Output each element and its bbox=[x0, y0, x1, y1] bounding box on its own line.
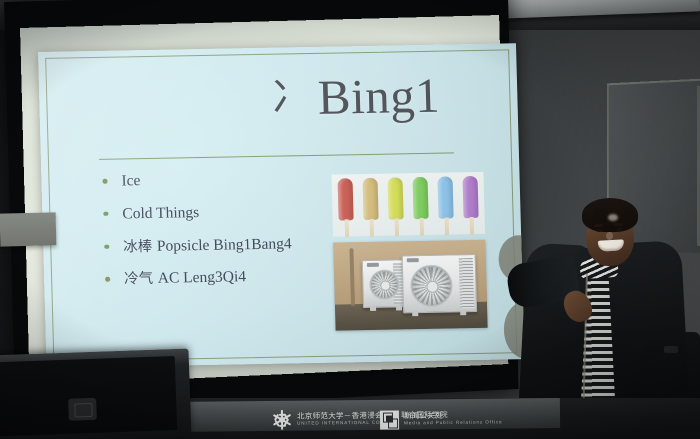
ac-grille bbox=[459, 258, 474, 308]
popsicle-6 bbox=[463, 176, 480, 234]
face-highlight bbox=[608, 214, 618, 221]
square-mark-icon bbox=[380, 410, 399, 429]
slide-title-text: Bing1 bbox=[317, 68, 441, 125]
popsicle-2 bbox=[363, 178, 380, 236]
nose bbox=[606, 232, 613, 240]
ac-foot bbox=[460, 310, 466, 315]
sleeve-tab bbox=[664, 346, 678, 353]
eye-left bbox=[596, 229, 602, 232]
list-item: 冰棒 Popsicle Bing1Bang4 bbox=[101, 234, 351, 256]
bullet-dot-icon bbox=[102, 179, 107, 184]
bullet-dot-icon bbox=[103, 212, 108, 217]
ac-unit-right bbox=[402, 254, 478, 313]
ac-brand-mark bbox=[367, 263, 379, 267]
list-item: 冷气 AC Leng3Qi4 bbox=[102, 267, 352, 289]
popsicle-body bbox=[363, 178, 379, 220]
photo-scene: 冫Bing1 Ice Cold Things 冰棒 Popsicle B bbox=[0, 0, 700, 439]
popsicle-body bbox=[413, 177, 429, 219]
popsicle-4 bbox=[413, 177, 430, 235]
eye-right bbox=[616, 228, 622, 231]
bullet-label: Cold Things bbox=[122, 204, 199, 222]
popsicle-body bbox=[388, 177, 404, 219]
monitor-button bbox=[68, 398, 97, 421]
popsicle-stick bbox=[444, 218, 448, 236]
bullet-label: Popsicle Bing1Bang4 bbox=[157, 235, 292, 254]
bullet-label: Ice bbox=[121, 172, 140, 189]
popsicle-stick bbox=[394, 218, 398, 236]
air-conditioner-photo bbox=[333, 240, 487, 331]
ac-foot bbox=[412, 311, 418, 316]
wall-bracket bbox=[0, 212, 56, 246]
ac-fan-blades bbox=[371, 271, 398, 297]
list-item: Cold Things bbox=[100, 201, 350, 223]
bullet-dot-icon bbox=[104, 244, 109, 249]
list-item: Ice bbox=[99, 168, 349, 190]
bullet-han: 冰棒 bbox=[123, 238, 157, 255]
bullet-han: 冷气 bbox=[124, 271, 158, 288]
bullet-label: AC Leng3Qi4 bbox=[158, 269, 247, 288]
monitor-bezel bbox=[0, 356, 177, 436]
popsicle-stick bbox=[369, 219, 373, 237]
mpro-logo-en: Media and Public Relations Office bbox=[404, 420, 503, 426]
popsicle-stick bbox=[419, 218, 423, 236]
popsicle-3 bbox=[388, 177, 405, 235]
mpro-logo-text: 新闻公关处 Media and Public Relations Office bbox=[404, 412, 503, 426]
presenter-raised-arm bbox=[505, 254, 582, 309]
ac-fan-icon bbox=[410, 264, 453, 307]
slide-bullet-list: Ice Cold Things 冰棒 Popsicle Bing1Bang4 冷… bbox=[99, 168, 353, 304]
bullet-dot-icon bbox=[105, 277, 110, 282]
ac-fan-blades bbox=[412, 266, 451, 305]
snowflake-icon bbox=[272, 410, 292, 430]
mpro-logo: 新闻公关处 Media and Public Relations Office bbox=[380, 405, 503, 432]
popsicle-body bbox=[338, 178, 354, 220]
popsicle-stick bbox=[469, 217, 473, 235]
computer-monitor bbox=[0, 349, 191, 439]
ac-brand-mark bbox=[407, 258, 419, 262]
popsicles-photo bbox=[331, 172, 485, 237]
popsicle-1 bbox=[338, 178, 355, 236]
popsicle-5 bbox=[438, 176, 455, 234]
popsicle-body bbox=[463, 176, 479, 218]
popsicle-body bbox=[438, 176, 454, 218]
ac-foot bbox=[370, 306, 376, 311]
slide-title: 冫Bing1 bbox=[271, 71, 441, 123]
presentation-slide: 冫Bing1 Ice Cold Things 冰棒 Popsicle B bbox=[38, 43, 524, 368]
ac-foot bbox=[396, 305, 402, 310]
popsicle-stick bbox=[344, 219, 348, 237]
ice-radical-glyph: 冫 bbox=[271, 74, 313, 121]
